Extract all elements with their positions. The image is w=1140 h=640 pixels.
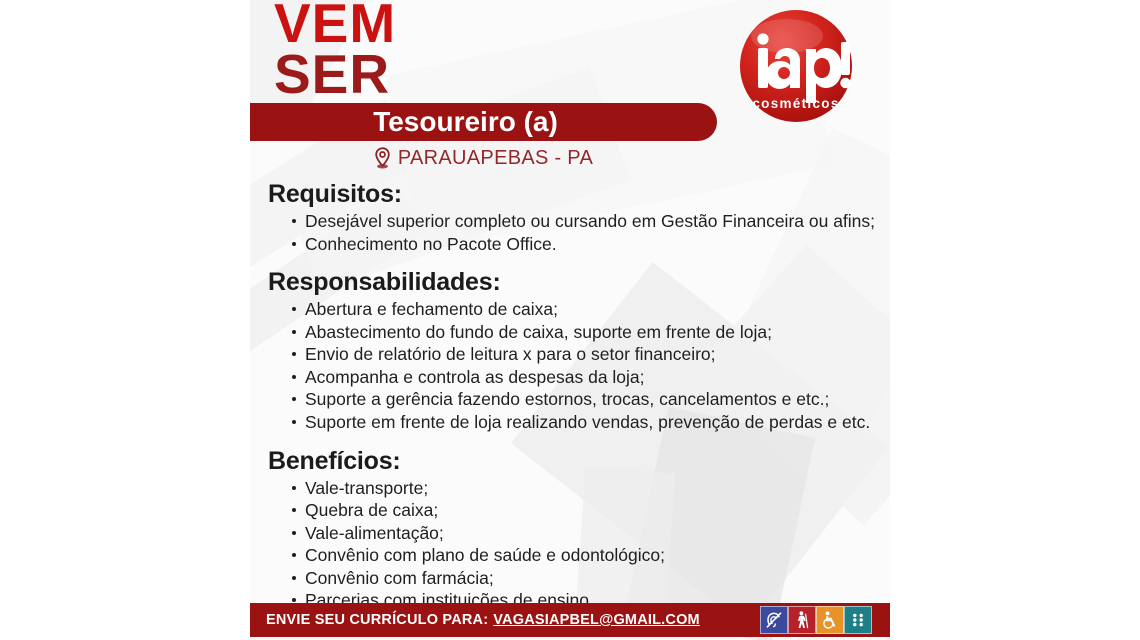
list-item: Envio de relatório de leitura x para o s… bbox=[292, 343, 878, 366]
list-item: Acompanha e controla as despesas da loja… bbox=[292, 366, 878, 389]
wheelchair-icon bbox=[816, 606, 844, 634]
section-heading: Requisitos: bbox=[268, 180, 878, 209]
list-item: Conhecimento no Pacote Office. bbox=[292, 233, 878, 256]
poster-canvas: VEM SER bbox=[0, 0, 1140, 640]
deaf-ear-icon bbox=[760, 606, 788, 634]
section-heading: Benefícios: bbox=[268, 447, 878, 476]
list-item: Convênio com farmácia; bbox=[292, 567, 878, 590]
section-responsabilidades: Responsabilidades: Abertura e fechamento… bbox=[268, 268, 878, 433]
requisitos-list: Desejável superior completo ou cursando … bbox=[268, 210, 878, 255]
accessibility-icons bbox=[760, 606, 872, 634]
iap-cosmeticos-logo: cosméticos bbox=[737, 8, 855, 130]
job-posting-panel: VEM SER bbox=[250, 0, 890, 640]
contact-email-link[interactable]: VAGASIAPBEL@GMAIL.COM bbox=[493, 612, 700, 628]
beneficios-list: Vale-transporte; Quebra de caixa; Vale-a… bbox=[268, 477, 878, 612]
braille-dots-icon bbox=[844, 606, 872, 634]
list-item: Quebra de caixa; bbox=[292, 499, 878, 522]
list-item: Abastecimento do fundo de caixa, suporte… bbox=[292, 321, 878, 344]
list-item: Suporte em frente de loja realizando ven… bbox=[292, 411, 878, 434]
logo-tagline: cosméticos bbox=[752, 96, 839, 111]
list-item: Vale-transporte; bbox=[292, 477, 878, 500]
page-title: Tesoureiro (a) bbox=[373, 106, 594, 138]
list-item: Vale-alimentação; bbox=[292, 522, 878, 545]
list-item: Desejável superior completo ou cursando … bbox=[292, 210, 878, 233]
location-text: PARAUAPEBAS - PA bbox=[398, 147, 593, 170]
responsabilidades-list: Abertura e fechamento de caixa; Abasteci… bbox=[268, 298, 878, 433]
list-item: Abertura e fechamento de caixa; bbox=[292, 298, 878, 321]
wordmark-line-vem: VEM bbox=[274, 0, 396, 49]
contact-footer-bar: ENVIE SEU CURRÍCULO PARA: VAGASIAPBEL@GM… bbox=[250, 603, 890, 637]
list-item: Convênio com plano de saúde e odontológi… bbox=[292, 544, 878, 567]
location-row: PARAUAPEBAS - PA bbox=[250, 144, 717, 172]
job-title-bar: Tesoureiro (a) bbox=[250, 103, 717, 141]
map-pin-icon bbox=[374, 147, 391, 169]
job-details: Requisitos: Desejável superior completo … bbox=[268, 180, 878, 625]
section-beneficios: Benefícios: Vale-transporte; Quebra de c… bbox=[268, 447, 878, 612]
campaign-wordmark: VEM SER bbox=[274, 0, 396, 99]
blind-cane-icon bbox=[788, 606, 816, 634]
section-heading: Responsabilidades: bbox=[268, 268, 878, 297]
list-item: Suporte a gerência fazendo estornos, tro… bbox=[292, 388, 878, 411]
section-requisitos: Requisitos: Desejável superior completo … bbox=[268, 180, 878, 255]
footer-label: ENVIE SEU CURRÍCULO PARA: bbox=[266, 612, 488, 628]
wordmark-line-ser: SER bbox=[274, 49, 396, 100]
